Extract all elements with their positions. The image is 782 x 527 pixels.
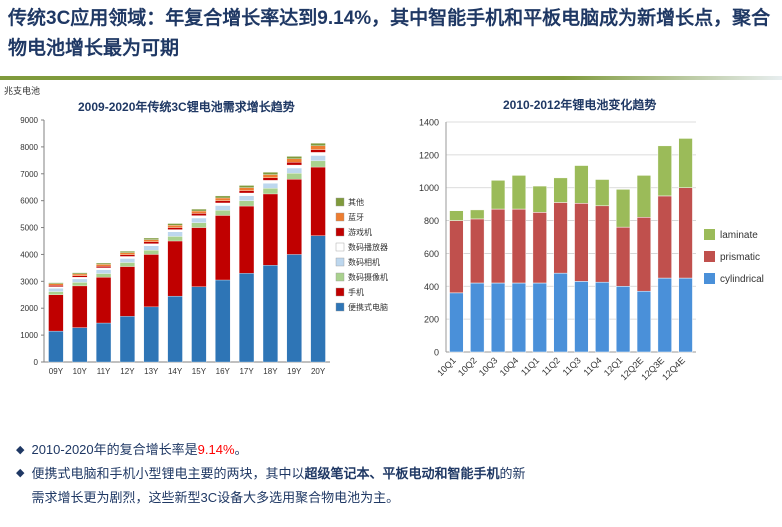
svg-text:7000: 7000 <box>20 170 38 179</box>
svg-text:数码摄像机: 数码摄像机 <box>348 272 388 282</box>
left-chart: 010002000300040005000600070008000900009Y… <box>0 112 400 412</box>
svg-text:20Y: 20Y <box>311 367 326 376</box>
page-title: 传统3C应用领域：年复合增长率达到9.14%，其中智能手机和平板电脑成为新增长点… <box>8 4 778 64</box>
svg-text:15Y: 15Y <box>192 367 207 376</box>
svg-text:400: 400 <box>424 282 439 292</box>
svg-text:8000: 8000 <box>20 143 38 152</box>
svg-text:10Q2: 10Q2 <box>456 355 479 378</box>
svg-text:蓝牙: 蓝牙 <box>348 212 364 222</box>
svg-text:19Y: 19Y <box>287 367 302 376</box>
svg-text:11Q4: 11Q4 <box>581 355 603 377</box>
bullet-text-1: 便携式电脑和手机小型锂电主要的两块，其中以超级笔记本、平板电动和智能手机的新 <box>31 463 525 484</box>
right-chart-title: 2010-2012年锂电池变化趋势 <box>503 96 656 113</box>
svg-text:3000: 3000 <box>20 277 38 286</box>
svg-text:6000: 6000 <box>20 197 38 206</box>
svg-text:1000: 1000 <box>20 331 38 340</box>
right-chart: 020040060080010001200140010Q110Q210Q310Q… <box>400 112 782 412</box>
svg-text:其他: 其他 <box>348 197 364 207</box>
svg-text:09Y: 09Y <box>49 367 64 376</box>
title-bar: 传统3C应用领域：年复合增长率达到9.14%，其中智能手机和平板电脑成为新增长点… <box>0 0 782 78</box>
bullet-marker: ◆ <box>16 440 24 460</box>
svg-text:14Y: 14Y <box>168 367 183 376</box>
list-item: ◆ 2010-2020年的复合增长率是9.14%。 <box>16 440 772 460</box>
svg-text:5000: 5000 <box>20 224 38 233</box>
svg-text:4000: 4000 <box>20 250 38 259</box>
svg-text:12Q4E: 12Q4E <box>660 355 687 382</box>
svg-text:便携式电脑: 便携式电脑 <box>348 302 388 312</box>
svg-text:数码相机: 数码相机 <box>348 257 380 267</box>
list-item: ◆ 需求增长更为剧烈，这些新型3C设备大多选用聚合物电池为主。 <box>16 487 772 508</box>
bullet-span: 的新 <box>500 466 526 481</box>
svg-text:cylindrical: cylindrical <box>720 274 764 285</box>
bullet-span: 9.14% <box>198 442 235 457</box>
svg-text:13Y: 13Y <box>144 367 159 376</box>
svg-text:17Y: 17Y <box>239 367 254 376</box>
bullet-span: 便携式电脑和手机小型锂电主要的两块，其中以 <box>31 466 304 481</box>
svg-text:11Y: 11Y <box>97 367 111 376</box>
svg-text:laminate: laminate <box>720 230 758 241</box>
svg-text:0: 0 <box>34 358 39 367</box>
bullet-span: 2010-2020年的复合增长率是 <box>31 442 197 457</box>
svg-text:16Y: 16Y <box>216 367 231 376</box>
svg-text:10Q4: 10Q4 <box>498 355 521 378</box>
bullet-span: 超级笔记本、平板电动和智能手机 <box>304 466 499 481</box>
svg-text:9000: 9000 <box>20 116 38 125</box>
list-item: ◆ 便携式电脑和手机小型锂电主要的两块，其中以超级笔记本、平板电动和智能手机的新 <box>16 463 772 484</box>
svg-text:800: 800 <box>424 216 439 226</box>
svg-text:游戏机: 游戏机 <box>348 227 372 237</box>
svg-text:1000: 1000 <box>419 183 439 193</box>
svg-text:11Q1: 11Q1 <box>519 355 541 377</box>
svg-text:1200: 1200 <box>419 150 439 160</box>
svg-text:200: 200 <box>424 315 439 325</box>
svg-text:1400: 1400 <box>419 118 439 128</box>
svg-text:11Q2: 11Q2 <box>540 355 562 377</box>
svg-text:数码播放器: 数码播放器 <box>348 242 388 252</box>
svg-text:10Y: 10Y <box>73 367 88 376</box>
svg-text:手机: 手机 <box>348 287 364 297</box>
bullet-list: ◆ 2010-2020年的复合增长率是9.14%。 ◆ 便携式电脑和手机小型锂电… <box>16 440 772 511</box>
svg-text:18Y: 18Y <box>263 367 278 376</box>
svg-text:10Q3: 10Q3 <box>477 355 500 378</box>
bullet-span: 。 <box>235 442 248 457</box>
svg-text:12Y: 12Y <box>120 367 135 376</box>
bullet-text-0: 2010-2020年的复合增长率是9.14%。 <box>31 440 247 460</box>
svg-text:10Q1: 10Q1 <box>435 355 458 378</box>
svg-text:2000: 2000 <box>20 304 38 313</box>
unit-label: 兆支电池 <box>4 84 40 97</box>
right-chart-svg: 020040060080010001200140010Q110Q210Q310Q… <box>400 112 782 412</box>
svg-text:prismatic: prismatic <box>720 252 760 263</box>
svg-text:11Q3: 11Q3 <box>561 355 583 377</box>
svg-text:0: 0 <box>434 348 439 358</box>
title-divider <box>0 76 782 80</box>
bullet-marker: ◆ <box>16 463 24 483</box>
bullet-span: 需求增长更为剧烈，这些新型3C设备大多选用聚合物电池为主。 <box>31 490 399 505</box>
svg-text:600: 600 <box>424 249 439 259</box>
bullet-text-2: 需求增长更为剧烈，这些新型3C设备大多选用聚合物电池为主。 <box>31 487 399 508</box>
left-chart-svg: 010002000300040005000600070008000900009Y… <box>0 112 400 412</box>
